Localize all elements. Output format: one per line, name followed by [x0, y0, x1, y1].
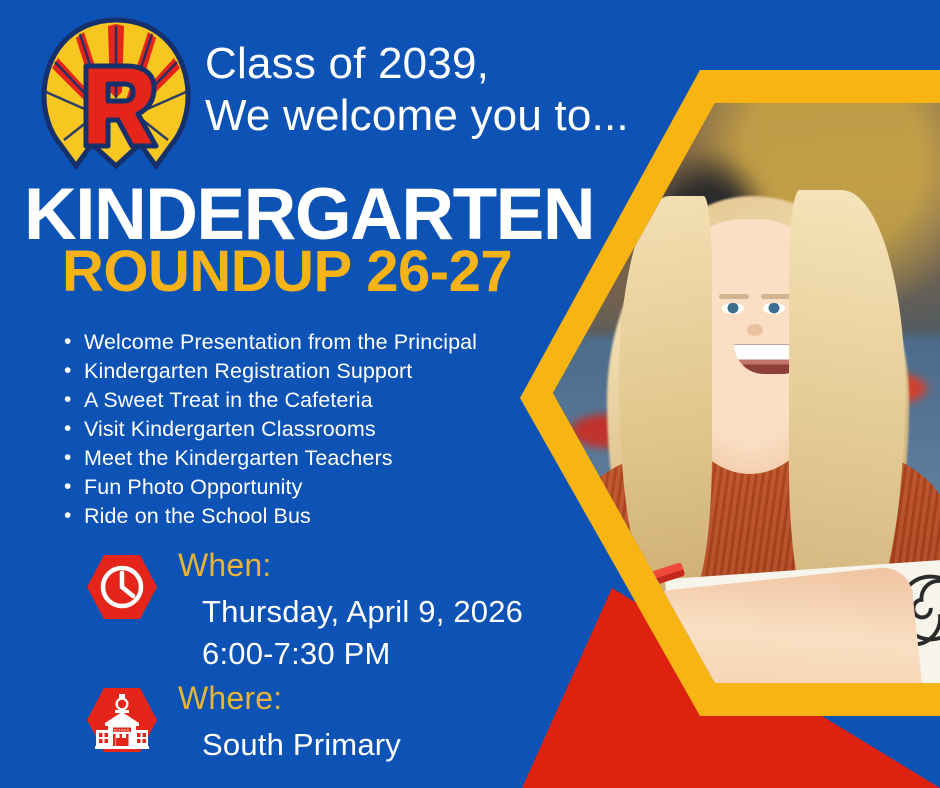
- activities-list: Welcome Presentation from the Principal …: [62, 328, 477, 531]
- kindergarten-roundup-flyer: Class of 2039, We welcome you to... KIND…: [0, 0, 940, 788]
- where-location: South Primary: [202, 727, 401, 763]
- headline-line-2: We welcome you to...: [205, 90, 629, 142]
- where-label: Where:: [178, 680, 282, 717]
- when-time: 6:00-7:30 PM: [202, 636, 391, 672]
- headline-line-1: Class of 2039,: [205, 38, 629, 90]
- list-item: Fun Photo Opportunity: [84, 473, 477, 502]
- school-building-icon: SCHOOL: [86, 686, 158, 754]
- page-subtitle: ROUNDUP 26-27: [62, 243, 512, 301]
- clock-icon: [86, 553, 158, 621]
- list-item: Kindergarten Registration Support: [84, 357, 477, 386]
- svg-text:SCHOOL: SCHOOL: [114, 727, 132, 732]
- list-item: Visit Kindergarten Classrooms: [84, 415, 477, 444]
- when-date: Thursday, April 9, 2026: [202, 594, 523, 630]
- list-item: Welcome Presentation from the Principal: [84, 328, 477, 357]
- list-item: A Sweet Treat in the Cafeteria: [84, 386, 477, 415]
- school-shell-crest-logo: [36, 14, 196, 174]
- when-label: When:: [178, 547, 271, 584]
- welcome-headline: Class of 2039, We welcome you to...: [205, 38, 629, 143]
- list-item: Meet the Kindergarten Teachers: [84, 444, 477, 473]
- list-item: Ride on the School Bus: [84, 502, 477, 531]
